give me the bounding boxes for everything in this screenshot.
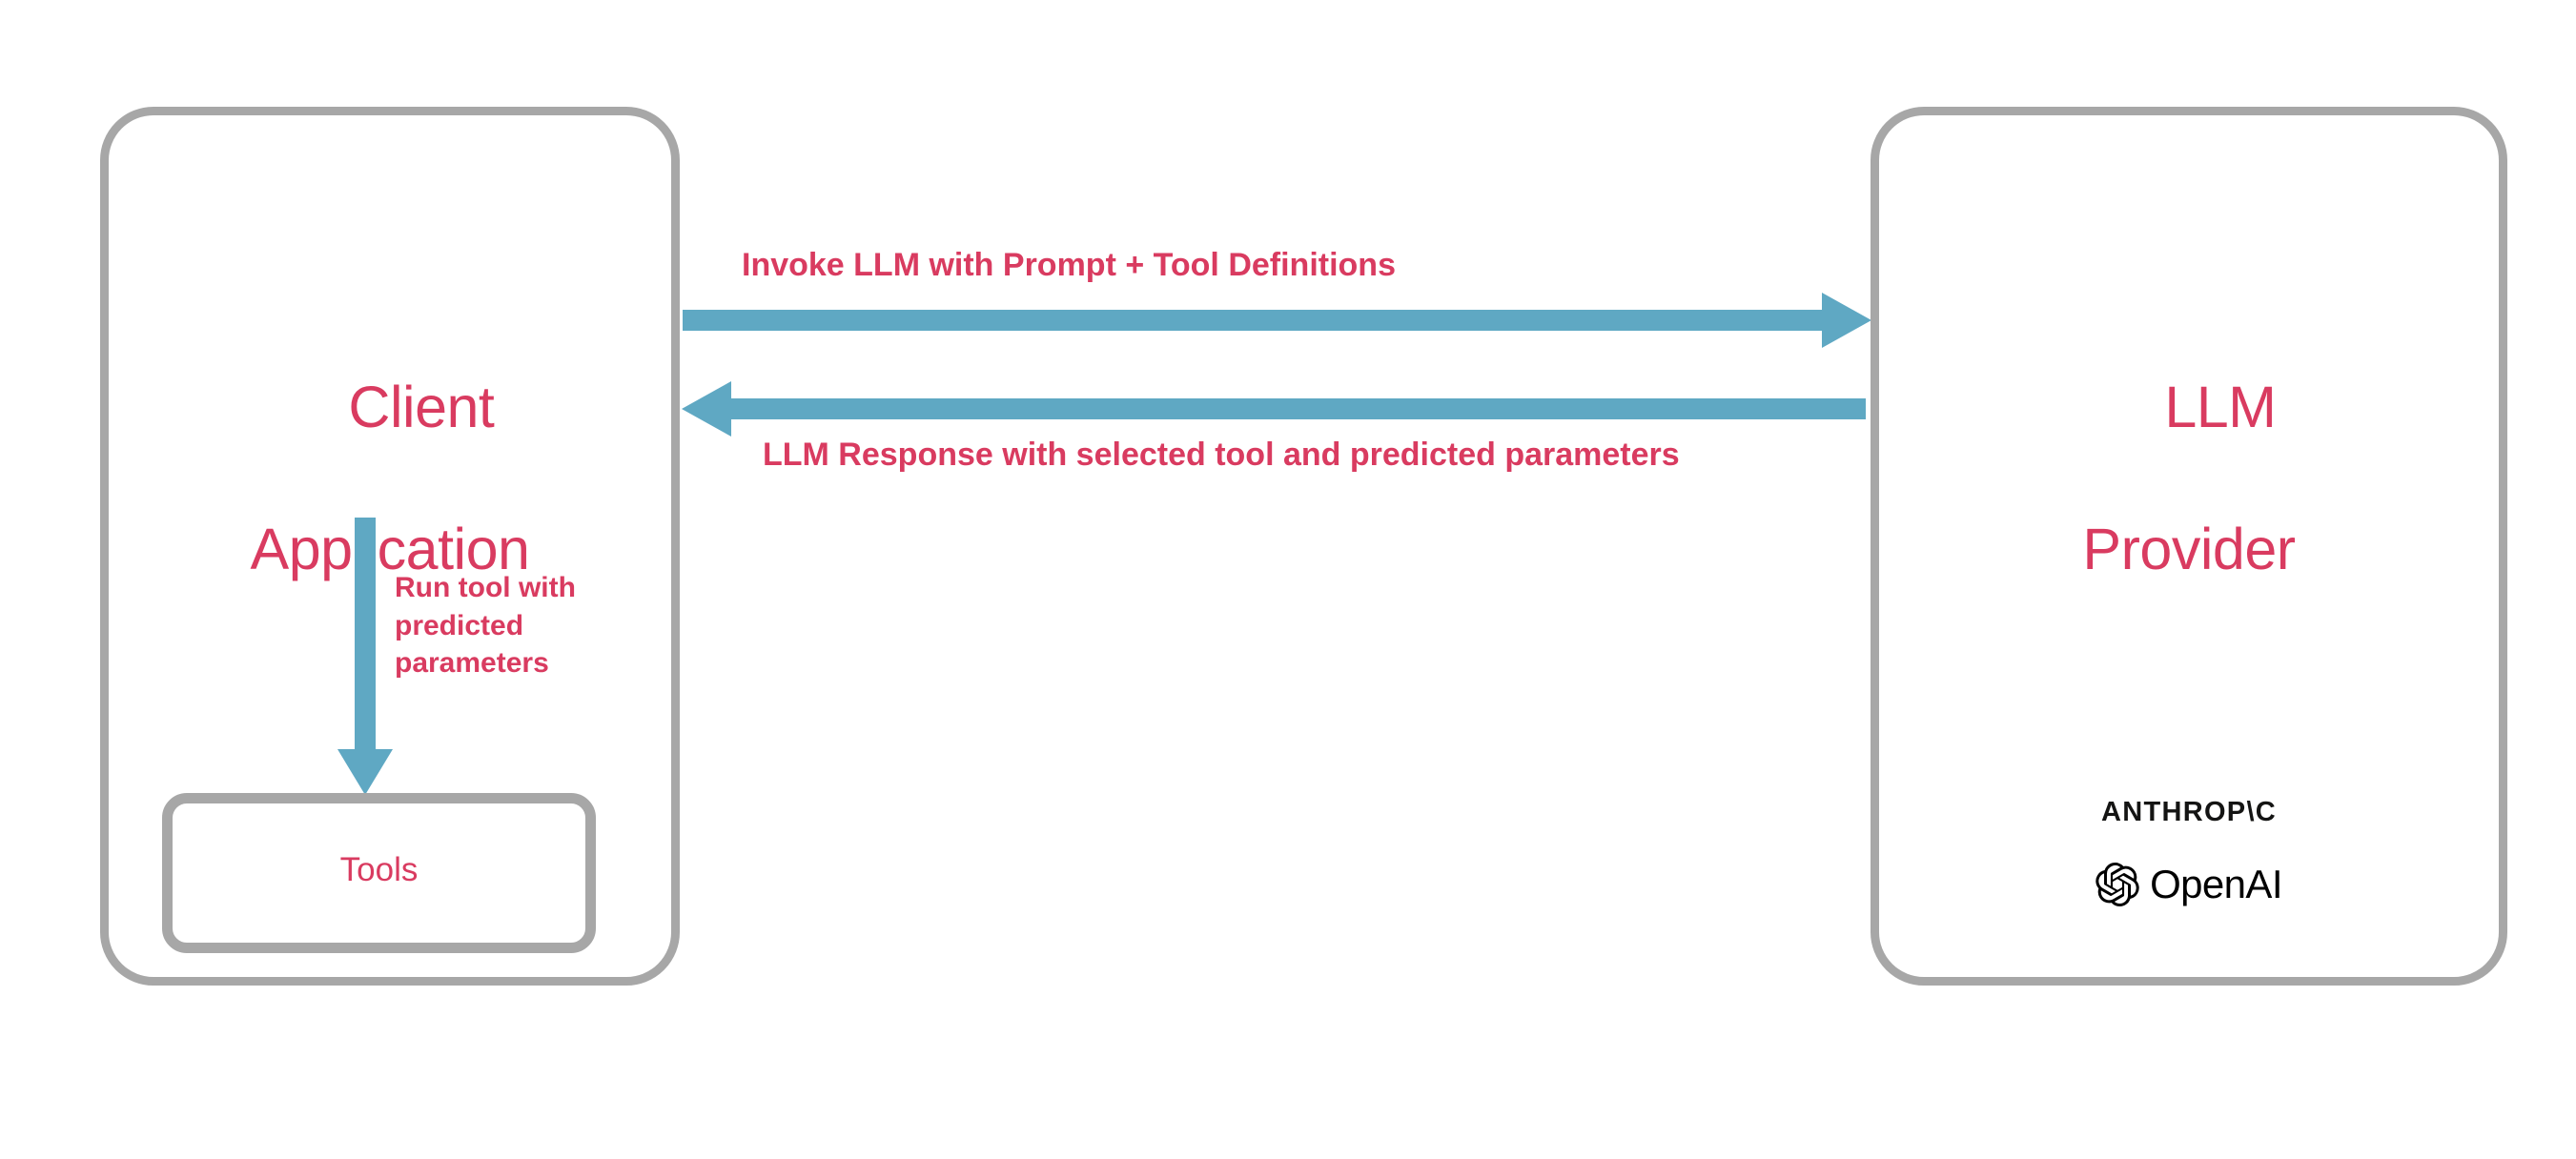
- response-edge-label: LLM Response with selected tool and pred…: [763, 437, 1680, 474]
- invoke-arrow-shaft: [683, 310, 1825, 331]
- invoke-arrow-head-icon: [1822, 293, 1871, 348]
- response-arrow-head-icon: [682, 381, 731, 437]
- llm-provider-title: LLM Provider: [1871, 320, 2507, 695]
- client-title-line-1: Client: [348, 375, 494, 439]
- openai-logo: OpenAI: [1871, 863, 2507, 906]
- llm-title-line-2: Provider: [1871, 520, 2507, 579]
- tools-label: Tools: [162, 851, 596, 889]
- invoke-edge-label: Invoke LLM with Prompt + Tool Definition…: [742, 247, 1396, 284]
- diagram-canvas: Client Application Run tool with predict…: [0, 0, 2576, 1159]
- openai-blossom-icon: [2096, 863, 2139, 906]
- openai-wordmark: OpenAI: [2150, 864, 2282, 905]
- run-tool-arrow-shaft: [355, 518, 376, 751]
- anthropic-logo: ANTHROP\C: [1871, 797, 2507, 828]
- run-tool-arrow-head-icon: [337, 749, 393, 795]
- response-arrow-shaft: [731, 398, 1866, 419]
- run-tool-edge-label: Run tool with predicted parameters: [395, 569, 652, 682]
- llm-title-line-1: LLM: [2164, 375, 2276, 439]
